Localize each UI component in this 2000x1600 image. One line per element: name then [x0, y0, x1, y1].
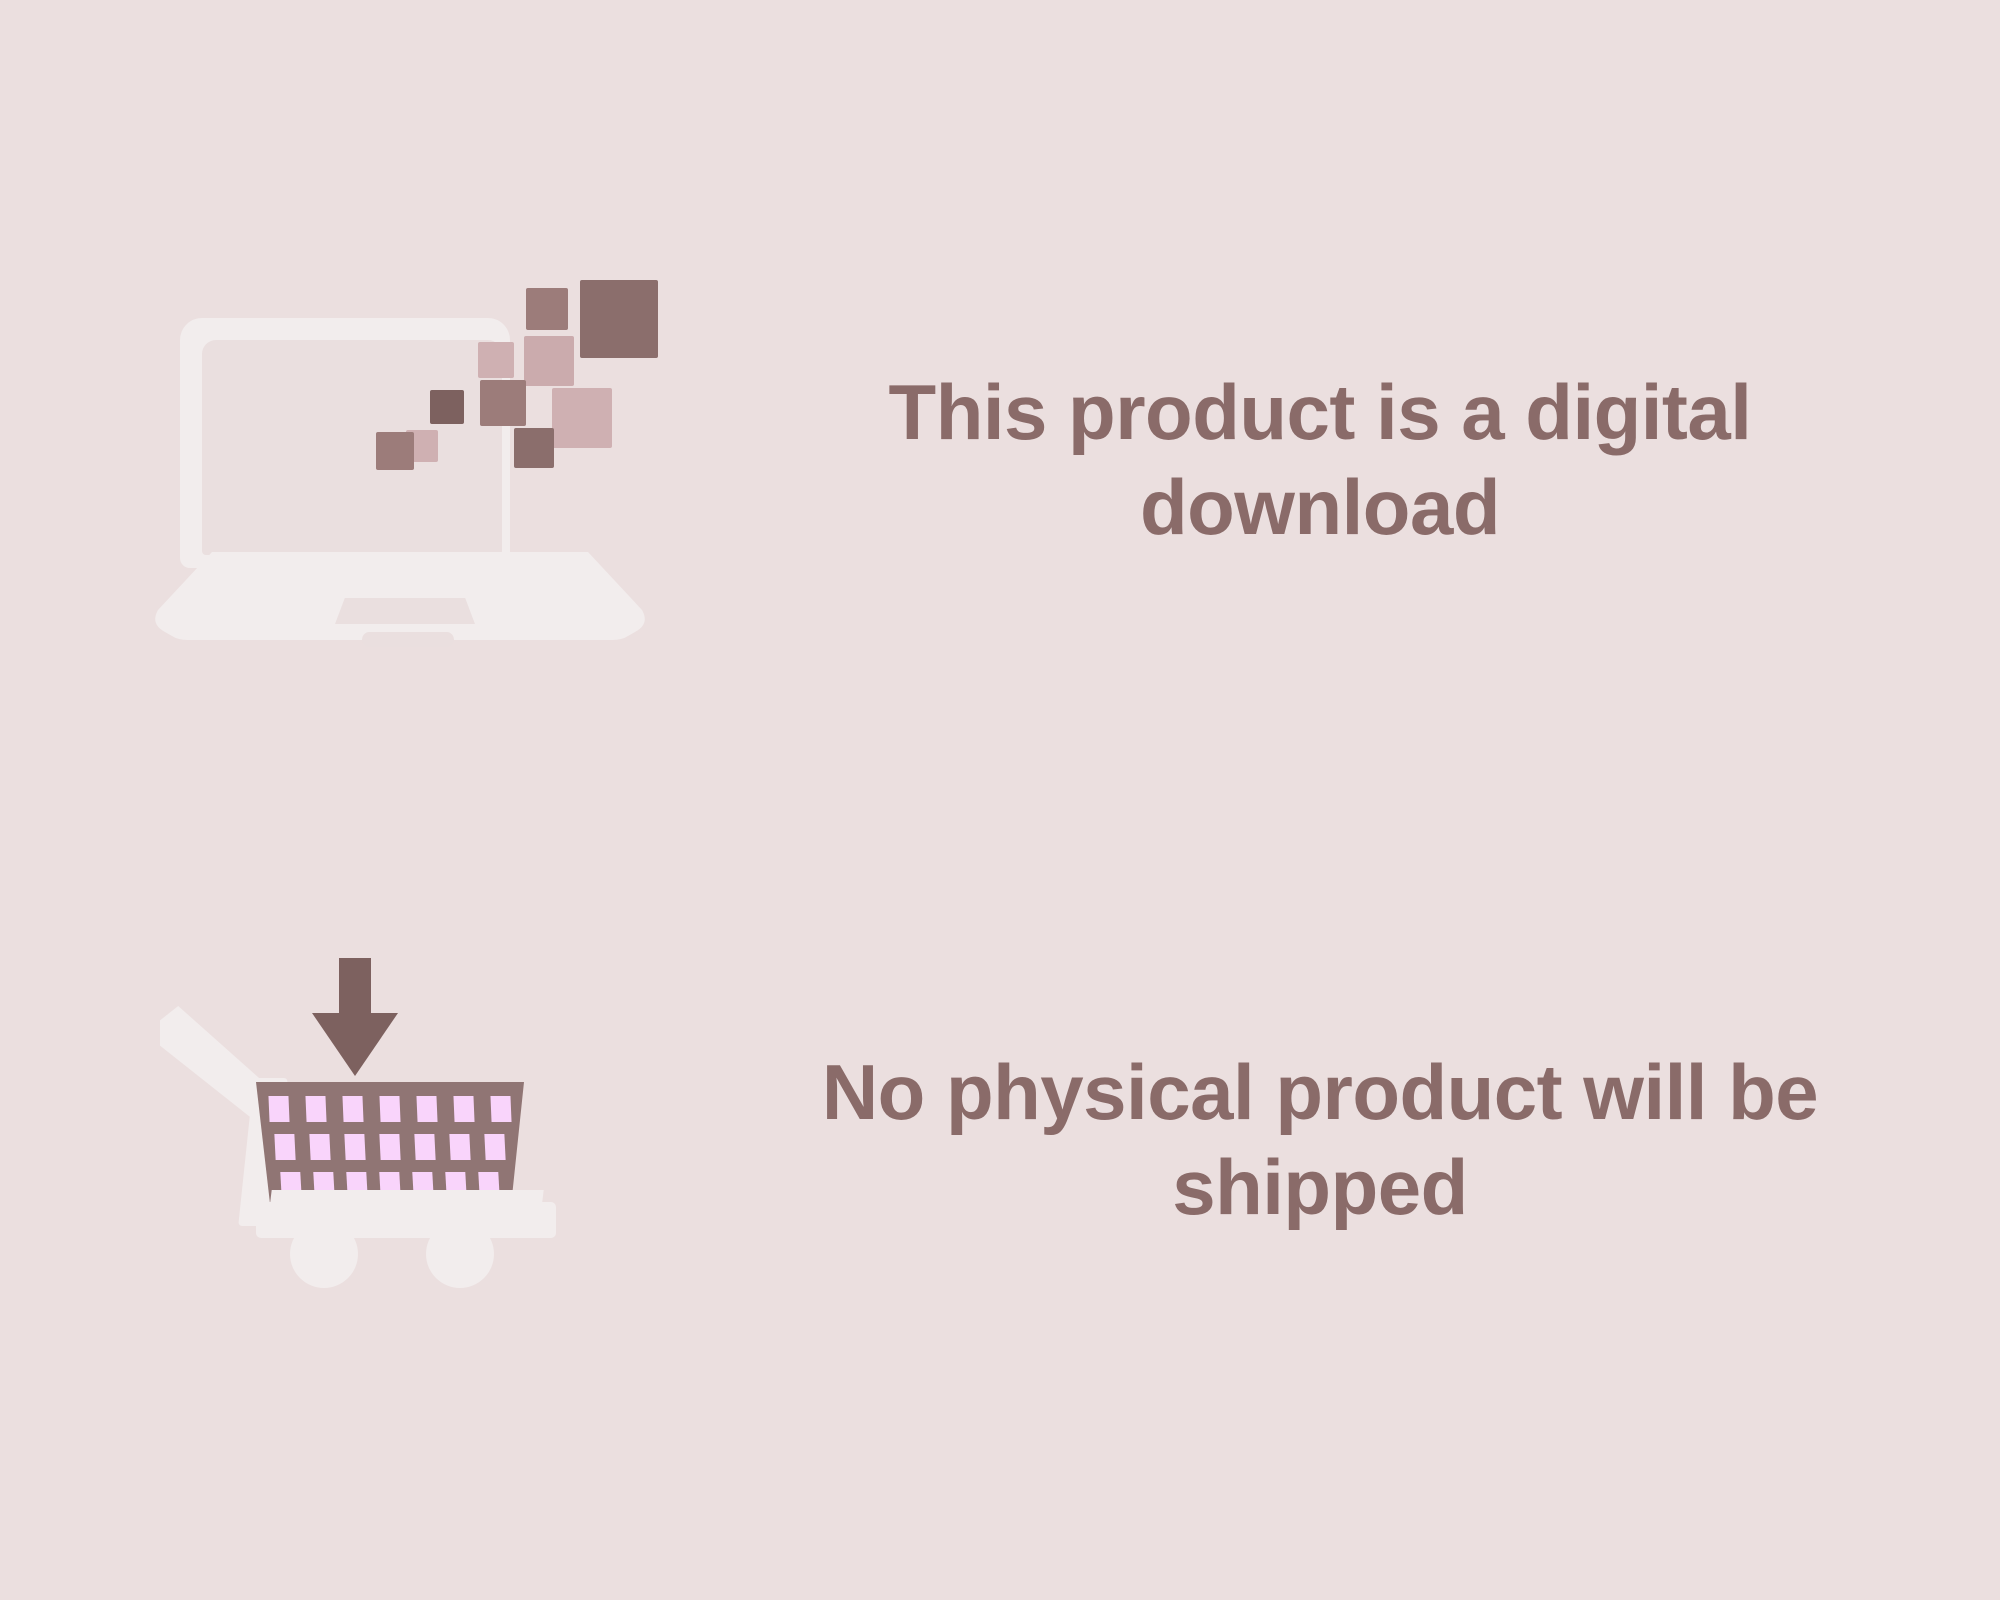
cart-mesh-cell [268, 1096, 289, 1122]
pixel-square-9 [514, 428, 554, 468]
cart-wheel-left [290, 1220, 358, 1288]
cart-mesh-cell [449, 1134, 470, 1160]
pixel-square-4 [430, 390, 464, 424]
cart-mesh-cell [309, 1134, 330, 1160]
cart-wheel-right [426, 1220, 494, 1288]
icon-slot-digital-download [140, 250, 700, 670]
shopping-cart-download-icon [160, 950, 640, 1330]
cart-mesh-cell [453, 1096, 474, 1122]
laptop-with-pixels-icon [150, 280, 650, 640]
pixel-square-3 [524, 336, 574, 386]
pixel-square-1 [580, 280, 658, 358]
cart-mesh-cell [484, 1134, 505, 1160]
cart-mesh-cell [490, 1096, 511, 1122]
pixel-square-5 [480, 380, 526, 426]
cart-mesh-cell [379, 1096, 400, 1122]
feature-label-no-shipping: No physical product will be shipped [820, 1045, 1820, 1235]
laptop-front-lip [362, 632, 454, 647]
pixel-cluster [280, 280, 660, 490]
icon-slot-no-shipping [140, 930, 700, 1350]
cart-mesh-cell [274, 1134, 295, 1160]
pixel-square-8 [376, 432, 414, 470]
laptop-trackpad [335, 598, 475, 624]
text-slot-digital-download: This product is a digital download [700, 250, 1900, 670]
feature-label-digital-download: This product is a digital download [820, 365, 1820, 555]
pixel-square-6 [552, 388, 612, 448]
pixel-square-0 [526, 288, 568, 330]
pixel-square-2 [478, 342, 514, 378]
cart-mesh-cell [305, 1096, 326, 1122]
download-arrow-icon [312, 958, 398, 1076]
feature-row-digital-download: This product is a digital download [140, 250, 1900, 670]
cart-mesh-cell [416, 1096, 437, 1122]
feature-row-no-shipping: No physical product will be shipped [140, 930, 1900, 1350]
cart-mesh-cell [379, 1134, 400, 1160]
text-slot-no-shipping: No physical product will be shipped [700, 930, 1900, 1350]
laptop-base [150, 552, 650, 640]
laptop-base-shape [150, 552, 650, 640]
cart-mesh-cell [342, 1096, 363, 1122]
cart-mesh-cell [344, 1134, 365, 1160]
poster-canvas: This product is a digital download [0, 0, 2000, 1600]
arrow-shaft [339, 958, 371, 1020]
arrow-head [312, 1013, 398, 1076]
cart-mesh-cell [414, 1134, 435, 1160]
